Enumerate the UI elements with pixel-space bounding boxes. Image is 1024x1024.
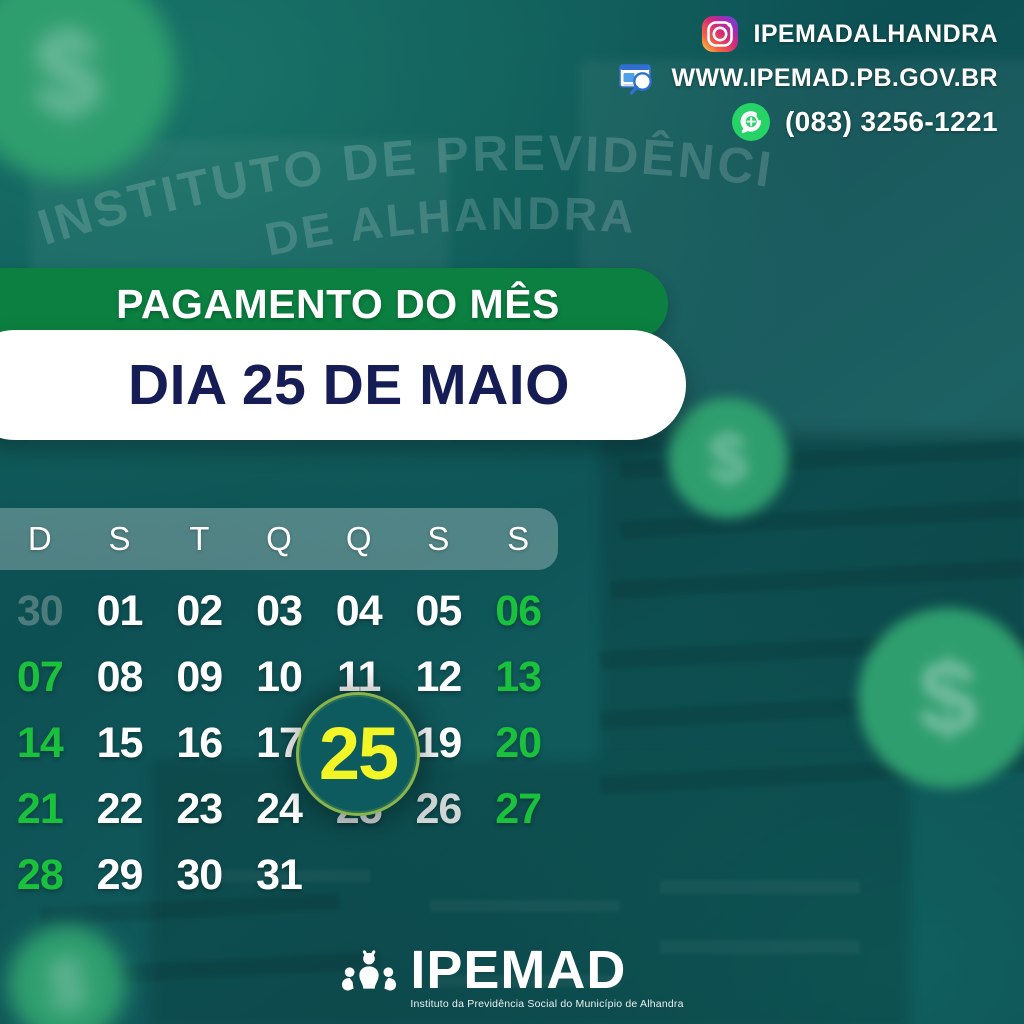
- logo-wordmark: IPEMAD: [410, 945, 626, 996]
- highlighted-day-label: 25: [319, 717, 397, 791]
- calendar-day-empty: [319, 842, 399, 908]
- calendar-day-05-r0c5[interactable]: 05: [399, 578, 479, 644]
- calendar-day-22-r3c1[interactable]: 22: [80, 776, 160, 842]
- calendar-weekday-3: Q: [239, 520, 319, 558]
- calendar-day-empty: [478, 842, 558, 908]
- calendar-day-07-r1c0[interactable]: 07: [0, 644, 80, 710]
- contact-row-website[interactable]: WWW.IPEMAD.PB.GOV.BR: [617, 58, 998, 98]
- calendar-day-13-r1c6[interactable]: 13: [478, 644, 558, 710]
- coin-icon: $: [858, 608, 1024, 788]
- calendar-weekday-5: S: [399, 520, 479, 558]
- whatsapp-icon: [731, 102, 771, 142]
- logo-tagline: Instituto da Previdência Social do Munic…: [410, 998, 683, 1010]
- calendar-day-grid: 3001020304050607080910111213141516171819…: [0, 578, 558, 908]
- banner-dia-25-de-maio: DIA 25 DE MAIO: [0, 330, 686, 440]
- calendar-day-08-r1c1[interactable]: 08: [80, 644, 160, 710]
- calendar-day-27-r3c6[interactable]: 27: [478, 776, 558, 842]
- ipemad-people-icon: [340, 948, 398, 1006]
- website-url: WWW.IPEMAD.PB.GOV.BR: [671, 64, 998, 93]
- calendar-weekday-header: DSTQQSS: [0, 508, 558, 570]
- calendar-day-12-r1c5[interactable]: 12: [399, 644, 479, 710]
- calendar-day-01-r0c1[interactable]: 01: [80, 578, 160, 644]
- calendar-day-31-r4c3[interactable]: 31: [239, 842, 319, 908]
- calendar-day-30-r4c2[interactable]: 30: [159, 842, 239, 908]
- calendar-day-28-r4c0[interactable]: 28: [0, 842, 80, 908]
- coin-icon: $: [668, 398, 788, 518]
- calendar-weekday-1: S: [80, 520, 160, 558]
- instagram-icon: [700, 14, 740, 54]
- calendar-day-empty: [399, 842, 479, 908]
- calendar-day-02-r0c2[interactable]: 02: [159, 578, 239, 644]
- calendar-day-10-r1c3[interactable]: 10: [239, 644, 319, 710]
- instagram-handle: IPEMADALHANDRA: [754, 20, 998, 49]
- website-search-icon: [617, 58, 657, 98]
- ipemad-logo: IPEMAD Instituto da Previdência Social d…: [0, 945, 1024, 1010]
- calendar-day-14-r2c0[interactable]: 14: [0, 710, 80, 776]
- calendar-weekday-6: S: [478, 520, 558, 558]
- phone-number: (083) 3256-1221: [785, 106, 998, 138]
- calendar-day-16-r2c2[interactable]: 16: [159, 710, 239, 776]
- background-sheet: [660, 880, 860, 894]
- calendar-weekday-0: D: [0, 520, 80, 558]
- poster-canvas: INSTITUTO DE PREVIDÊNCIA DE ALHANDRA $ $…: [0, 0, 1024, 1024]
- calendar-day-30-r0c0[interactable]: 30: [0, 578, 80, 644]
- calendar-highlighted-day[interactable]: 25: [296, 692, 420, 816]
- calendar-day-15-r2c1[interactable]: 15: [80, 710, 160, 776]
- contact-row-instagram[interactable]: IPEMADALHANDRA: [700, 14, 998, 54]
- banner-top-label: PAGAMENTO DO MÊS: [70, 281, 560, 328]
- calendar-day-03-r0c3[interactable]: 03: [239, 578, 319, 644]
- calendar-weekday-4: Q: [319, 520, 399, 558]
- calendar-day-04-r0c4[interactable]: 04: [319, 578, 399, 644]
- calendar-day-29-r4c1[interactable]: 29: [80, 842, 160, 908]
- calendar-day-21-r3c0[interactable]: 21: [0, 776, 80, 842]
- calendar-day-23-r3c2[interactable]: 23: [159, 776, 239, 842]
- calendar-day-06-r0c6[interactable]: 06: [478, 578, 558, 644]
- calendar-day-20-r2c6[interactable]: 20: [478, 710, 558, 776]
- banner-bottom-label: DIA 25 DE MAIO: [76, 352, 570, 418]
- logo-text-block: IPEMAD Instituto da Previdência Social d…: [410, 945, 683, 1010]
- calendar-weekday-2: T: [159, 520, 239, 558]
- contact-row-phone[interactable]: (083) 3256-1221: [731, 102, 998, 142]
- calendar-day-09-r1c2[interactable]: 09: [159, 644, 239, 710]
- contact-block: IPEMADALHANDRA WWW.IPEMAD.PB.GOV.BR: [617, 14, 998, 142]
- calendar: DSTQQSS 30010203040506070809101112131415…: [0, 508, 558, 908]
